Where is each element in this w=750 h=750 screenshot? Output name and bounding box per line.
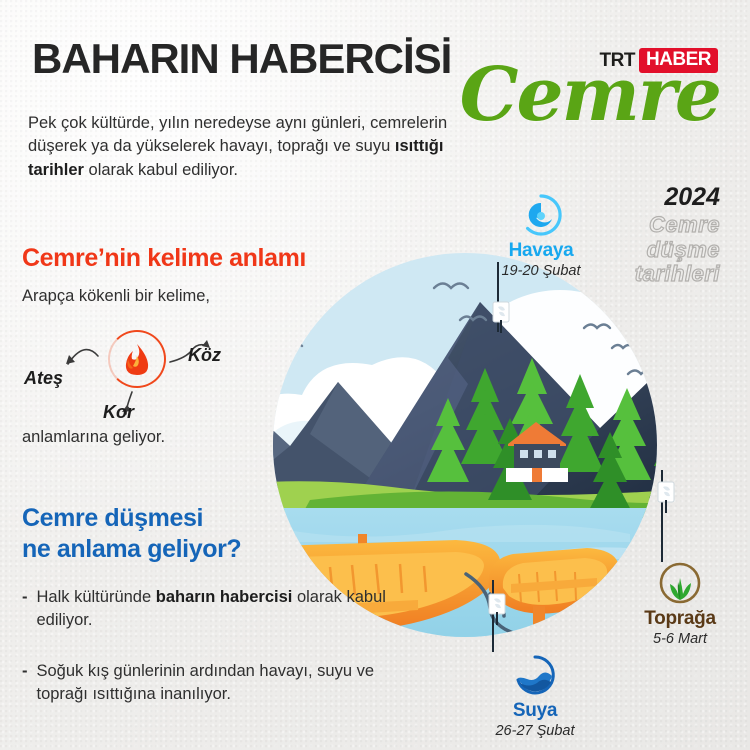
marker-date-suya: 26-27 Şubat xyxy=(475,723,595,739)
soil-leaf-icon xyxy=(657,560,703,606)
marker-date-havaya: 19-20 Şubat xyxy=(486,263,596,279)
marker-label-suya: Suya xyxy=(475,700,595,722)
marker-label-topraga: Toprağa xyxy=(620,608,740,630)
falling-heading-line2: ne anlama geliyor? xyxy=(22,534,241,565)
air-swirl-icon xyxy=(518,192,564,238)
dates-subtitle: Cemre düşme tarihleri xyxy=(635,213,720,287)
meaning-word-koz: Köz xyxy=(188,345,221,366)
flag-marker-havaya xyxy=(490,300,514,334)
trt-logo-text: TRT xyxy=(600,50,635,72)
section-heading-meaning: Cemre’nin kelime anlamı xyxy=(22,244,306,273)
infographic-page: BAHARIN HABERCİSİ TRT HABER Cemre Pek ço… xyxy=(0,0,750,750)
marker-date-topraga: 5-6 Mart xyxy=(620,631,740,647)
list-item: - Halk kültüründe baharın habercisi olar… xyxy=(22,586,422,632)
falling-heading-line1: Cemre düşmesi xyxy=(22,503,241,534)
meaning-word-ates: Ateş xyxy=(24,368,63,389)
dates-subtitle-line3: tarihleri xyxy=(635,262,720,287)
water-wave-icon xyxy=(512,652,558,698)
marker-havaya: Havaya 19-20 Şubat xyxy=(486,192,596,279)
dates-subtitle-line2: düşme xyxy=(635,238,720,263)
intro-text-1: Pek çok kültürde, yılın neredeyse aynı g… xyxy=(28,114,447,155)
bullet-bold: baharın habercisi xyxy=(156,588,293,606)
bullet-pre: Halk kültüründe xyxy=(37,588,156,606)
dates-year: 2024 xyxy=(664,183,720,212)
bullet-text: Halk kültüründe baharın habercisi olarak… xyxy=(37,586,423,632)
list-item: - Soğuk kış günlerinin ardından havayı, … xyxy=(22,660,422,706)
fire-word-diagram: Ateş Köz Kor xyxy=(18,320,268,430)
bullet-dash: - xyxy=(22,660,28,706)
dates-subtitle-line1: Cemre xyxy=(635,213,720,238)
marker-suya: Suya 26-27 Şubat xyxy=(475,652,595,739)
bullet-text: Soğuk kış günlerinin ardından havayı, su… xyxy=(37,660,423,706)
flag-marker-suya xyxy=(486,592,510,626)
meaning-lead-text: Arapça kökenli bir kelime, xyxy=(22,287,210,306)
intro-paragraph: Pek çok kültürde, yılın neredeyse aynı g… xyxy=(28,112,458,182)
page-title: BAHARIN HABERCİSİ xyxy=(32,35,451,83)
meaning-word-kor: Kor xyxy=(103,402,134,423)
marker-label-havaya: Havaya xyxy=(486,240,596,262)
marker-topraga: Toprağa 5-6 Mart xyxy=(620,560,740,647)
section-heading-falling: Cemre düşmesi ne anlama geliyor? xyxy=(22,503,241,564)
haber-logo-badge: HABER xyxy=(639,48,718,73)
fire-icon-circle xyxy=(108,330,166,388)
flag-marker-topraga xyxy=(655,480,679,514)
intro-text-2: olarak kabul ediliyor. xyxy=(84,161,238,179)
bullet-dash: - xyxy=(22,586,28,632)
fire-icon xyxy=(122,343,152,375)
trt-haber-logo[interactable]: TRT HABER xyxy=(600,48,719,73)
meaning-tail-text: anlamlarına geliyor. xyxy=(22,428,165,447)
